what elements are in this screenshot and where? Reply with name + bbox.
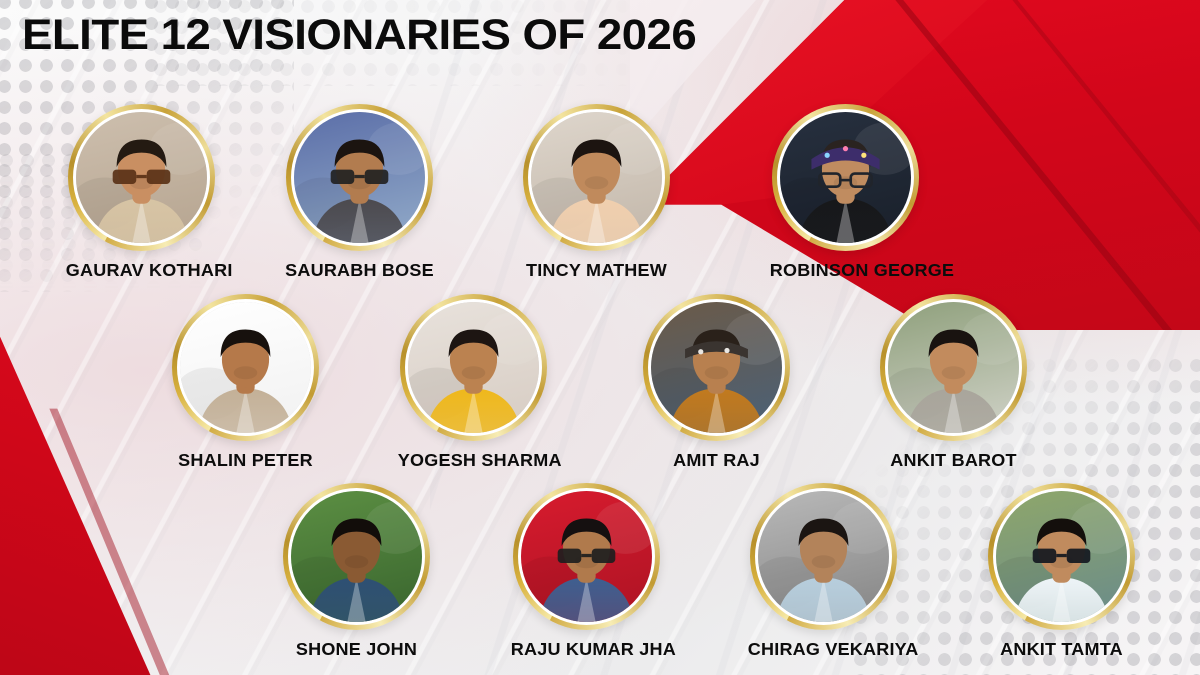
- portrait-photo[interactable]: [408, 302, 539, 433]
- visionary-name: SHONE JOHN: [281, 639, 432, 660]
- ring-inner-white: [288, 488, 425, 625]
- visionary-name: SAURABH BOSE: [284, 260, 435, 281]
- ring-inner-white: [528, 109, 665, 246]
- ring-inner-white: [291, 109, 428, 246]
- portrait-photo[interactable]: [888, 302, 1019, 433]
- portrait-photo[interactable]: [780, 112, 911, 243]
- gold-ring-frame: [283, 483, 430, 630]
- portrait-photo[interactable]: [521, 491, 652, 622]
- visionary-card[interactable]: RAJU KUMAR JHA: [513, 483, 660, 660]
- visionary-card[interactable]: ANKIT BAROT: [880, 294, 1027, 471]
- gold-ring-frame: [988, 483, 1135, 630]
- visionary-card[interactable]: CHIRAG VEKARIYA: [750, 483, 897, 660]
- poster-canvas: ELITE 12 VISIONARIES OF 2026: [0, 0, 1200, 675]
- ring-inner-white: [777, 109, 914, 246]
- ring-inner-white: [73, 109, 210, 246]
- portrait-photo[interactable]: [76, 112, 207, 243]
- visionary-card[interactable]: AMIT RAJ: [643, 294, 790, 471]
- visionary-name: TINCY MATHEW: [521, 260, 672, 281]
- visionary-name: ANKIT TAMTA: [986, 639, 1137, 660]
- visionary-card[interactable]: GAURAV KOTHARI: [68, 104, 215, 281]
- visionary-card[interactable]: YOGESH SHARMA: [400, 294, 547, 471]
- gold-ring-frame: [68, 104, 215, 251]
- ring-inner-white: [993, 488, 1130, 625]
- visionary-card[interactable]: TINCY MATHEW: [523, 104, 670, 281]
- portrait-photo[interactable]: [651, 302, 782, 433]
- visionaries-grid: GAURAV KOTHARI: [0, 0, 1200, 675]
- gold-ring-frame: [643, 294, 790, 441]
- gold-ring-frame: [513, 483, 660, 630]
- ring-inner-white: [518, 488, 655, 625]
- portrait-photo[interactable]: [291, 491, 422, 622]
- gold-ring-frame: [400, 294, 547, 441]
- visionary-name: CHIRAG VEKARIYA: [748, 639, 899, 660]
- visionary-card[interactable]: SHONE JOHN: [283, 483, 430, 660]
- gold-ring-frame: [172, 294, 319, 441]
- visionary-name: GAURAV KOTHARI: [66, 260, 217, 281]
- visionary-name: YOGESH SHARMA: [398, 450, 549, 471]
- ring-inner-white: [648, 299, 785, 436]
- portrait-photo[interactable]: [294, 112, 425, 243]
- ring-inner-white: [885, 299, 1022, 436]
- visionary-card[interactable]: SHALIN PETER: [172, 294, 319, 471]
- gold-ring-frame: [286, 104, 433, 251]
- ring-inner-white: [405, 299, 542, 436]
- visionary-card[interactable]: ANKIT TAMTA: [988, 483, 1135, 660]
- visionary-name: SHALIN PETER: [170, 450, 321, 471]
- visionary-card[interactable]: SAURABH BOSE: [286, 104, 433, 281]
- visionary-name: RAJU KUMAR JHA: [511, 639, 662, 660]
- portrait-photo[interactable]: [531, 112, 662, 243]
- visionary-name: ROBINSON GEORGE: [770, 260, 921, 281]
- visionary-card[interactable]: ROBINSON GEORGE: [772, 104, 919, 281]
- gold-ring-frame: [880, 294, 1027, 441]
- visionary-name: ANKIT BAROT: [878, 450, 1029, 471]
- portrait-photo[interactable]: [996, 491, 1127, 622]
- portrait-photo[interactable]: [758, 491, 889, 622]
- ring-inner-white: [177, 299, 314, 436]
- ring-inner-white: [755, 488, 892, 625]
- portrait-photo[interactable]: [180, 302, 311, 433]
- visionary-name: AMIT RAJ: [641, 450, 792, 471]
- gold-ring-frame: [523, 104, 670, 251]
- gold-ring-frame: [750, 483, 897, 630]
- gold-ring-frame: [772, 104, 919, 251]
